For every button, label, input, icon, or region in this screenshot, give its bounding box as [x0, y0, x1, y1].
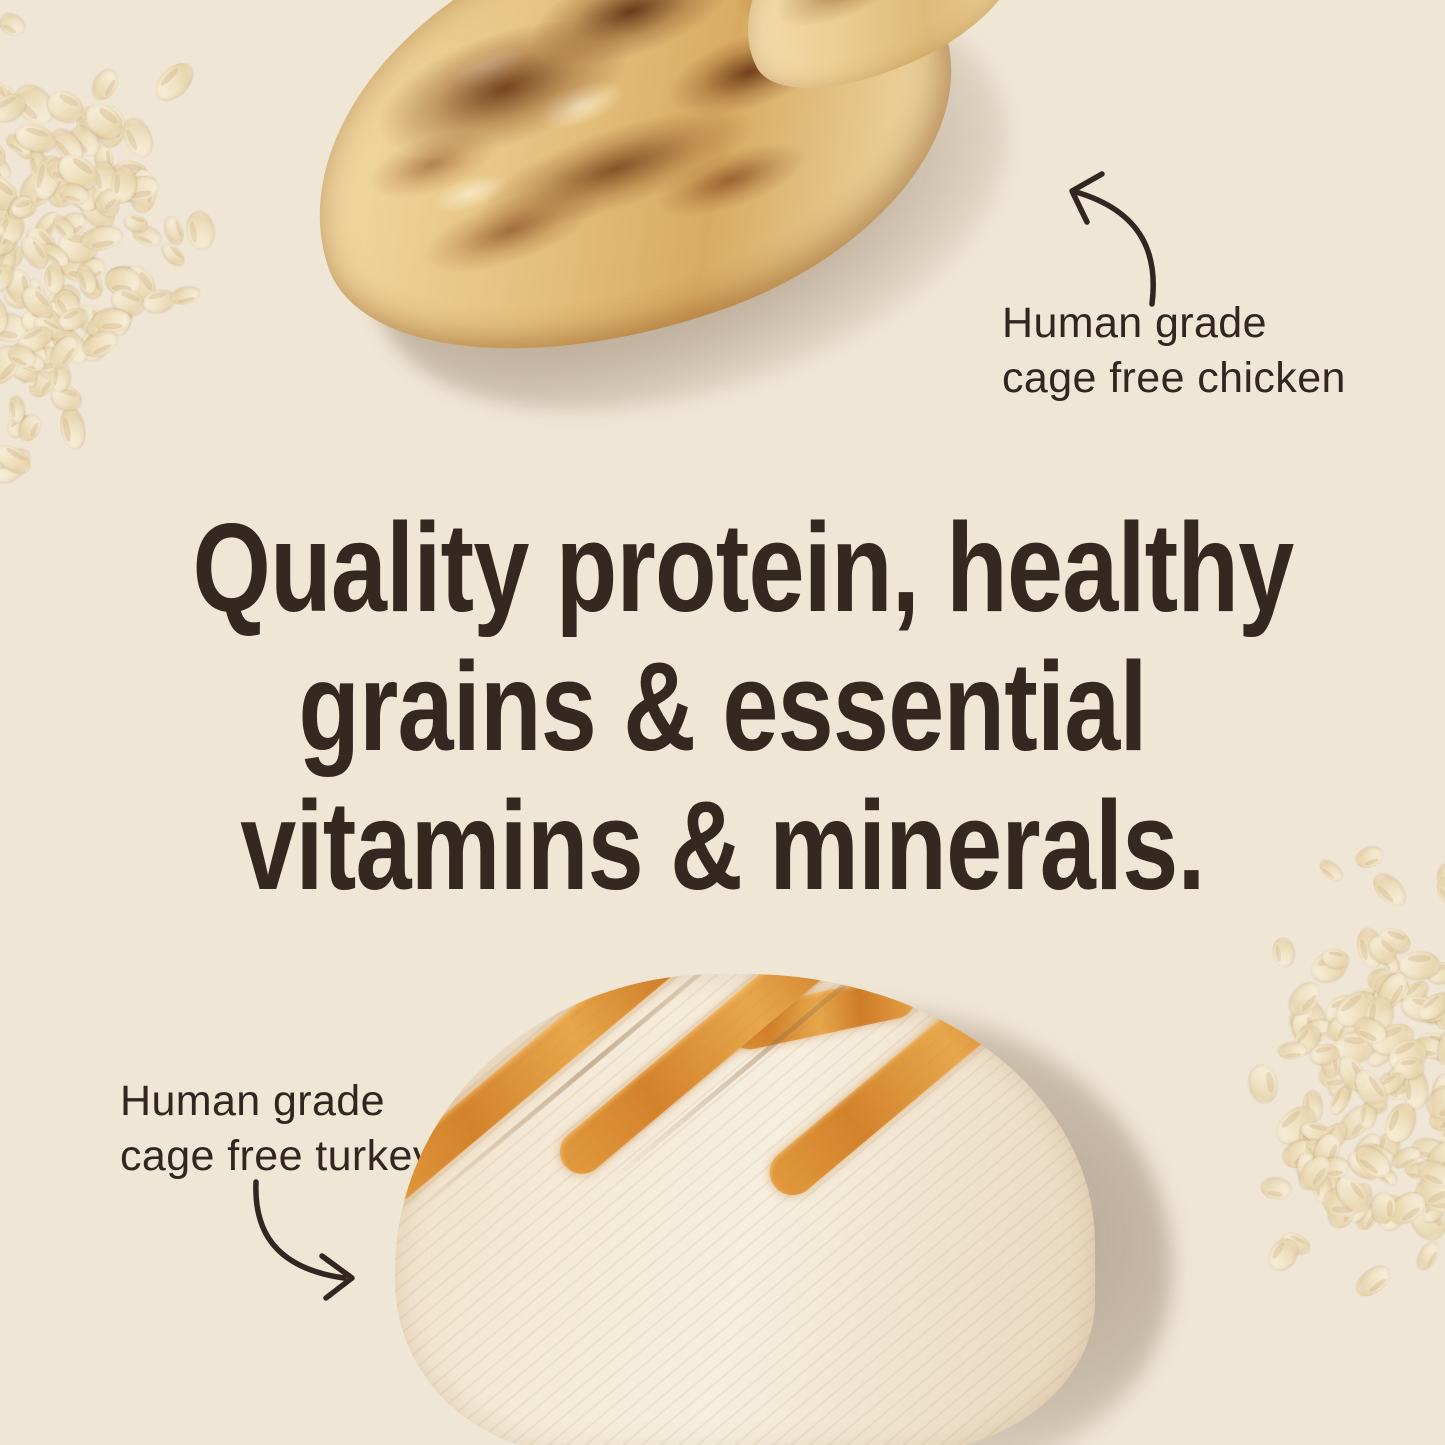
- oat-flake: [149, 56, 199, 106]
- headline-line-2: grains & essential: [193, 637, 1253, 776]
- callout-chicken-line-1: Human grade: [1002, 296, 1346, 351]
- oat-flake: [1352, 1260, 1395, 1301]
- oat-flake: [1353, 844, 1386, 872]
- oat-flake: [184, 210, 217, 251]
- oat-flake: [158, 240, 188, 270]
- oat-flake: [1367, 869, 1410, 912]
- curved-arrow-up-left-icon: [1040, 168, 1190, 308]
- callout-turkey-line-1: Human grade: [120, 1074, 435, 1129]
- oat-flake: [161, 214, 187, 247]
- chicken-breast-photo: [300, 0, 1000, 400]
- oat-flake: [1247, 1063, 1280, 1105]
- headline-line-3: vitamins & minerals.: [193, 776, 1253, 915]
- turkey-slices-photo: [395, 948, 1155, 1445]
- oat-flake: [170, 285, 202, 307]
- oat-flake: [7, 395, 25, 423]
- curved-arrow-down-right-icon: [248, 1178, 398, 1303]
- oat-flakes-top-left: [0, 22, 198, 442]
- oat-flake: [0, 10, 28, 40]
- oat-flake: [1399, 950, 1440, 979]
- oat-flake: [1260, 1177, 1293, 1202]
- oat-flake: [1317, 857, 1346, 884]
- oat-flake: [88, 66, 123, 105]
- oat-flake: [58, 406, 88, 452]
- callout-chicken-line-2: cage free chicken: [1002, 351, 1346, 406]
- oat-flake: [1413, 1239, 1443, 1274]
- callout-turkey: Human grade cage free turkey: [120, 1074, 435, 1184]
- oat-flake: [1277, 1042, 1307, 1060]
- callout-chicken: Human grade cage free chicken: [1002, 296, 1346, 406]
- product-benefit-banner: Human grade cage free chicken Quality pr…: [0, 0, 1445, 1445]
- callout-turkey-line-2: cage free turkey: [120, 1129, 435, 1184]
- oat-flake: [1271, 937, 1296, 968]
- headline-line-1: Quality protein, healthy: [193, 498, 1253, 637]
- page-title: Quality protein, healthy grains & essent…: [193, 498, 1253, 915]
- oat-flakes-right: [1258, 880, 1445, 1280]
